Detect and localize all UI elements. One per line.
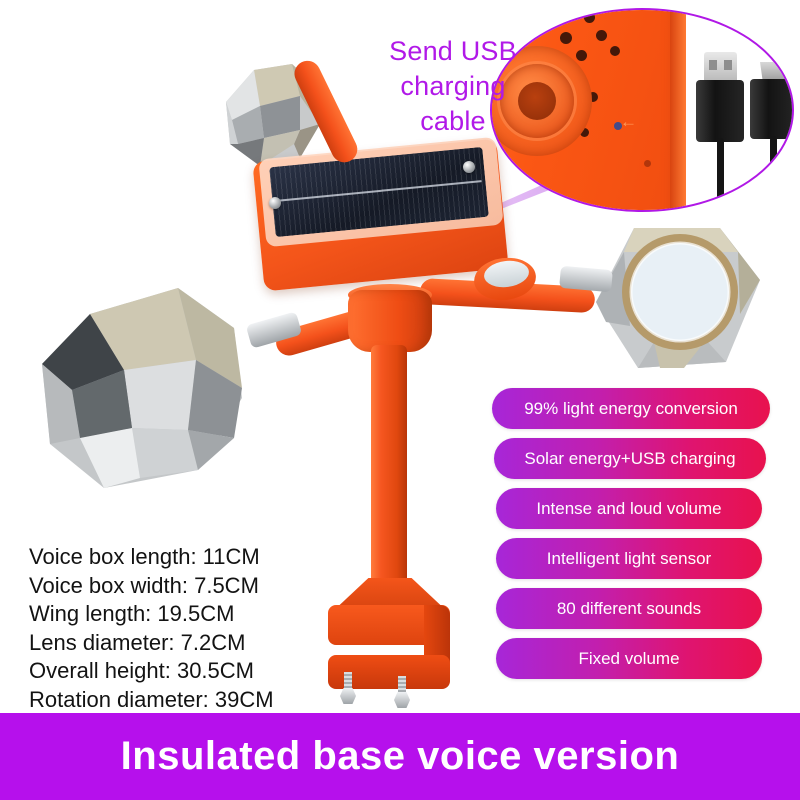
feature-pill[interactable]: 99% light energy conversion [492,388,770,429]
callout-label-line1: Send USB [368,34,538,69]
bolt-nut [340,688,356,704]
feature-pill[interactable]: Intelligent light sensor [496,538,762,579]
spec-line: Voice box width: 7.5CM [29,572,274,601]
spec-line: Wing length: 19.5CM [29,600,274,629]
speaker-hole [560,32,572,44]
support-pole [371,345,407,600]
callout-label: Send USB charging cable [368,34,538,139]
screw-icon [269,197,281,209]
feature-pill-label: 99% light energy conversion [524,399,738,419]
bolt-nut [394,692,410,708]
callout-label-line2: charging cable [368,69,538,139]
speaker-hole [548,14,560,26]
mirror-ball-left [28,278,278,503]
micro-usb-connector [750,79,794,139]
screw-hole [644,160,651,167]
feature-pill-label: 80 different sounds [557,599,701,619]
device-edge [670,8,686,212]
micro-usb-port [540,210,578,212]
feature-pill-label: Fixed volume [578,649,679,669]
arrow-icon: ← [620,116,650,128]
feature-pill-label: Solar energy+USB charging [524,449,735,469]
spec-line: Voice box length: 11CM [29,543,274,572]
usb-a-cable [712,200,722,212]
feature-pill-label: Intelligent light sensor [547,549,711,569]
screw-icon [463,161,475,173]
mirror-ball-right [588,222,768,377]
mirror-stub-right [559,266,613,292]
rotation-hub [348,290,432,352]
spec-line: Lens diameter: 7.2CM [29,629,274,658]
speaker-hole [596,30,607,41]
product-image-canvas: ← Send USB charging cable [0,0,800,800]
clamp-bolt [394,676,410,706]
feature-pill[interactable]: Intense and loud volume [496,488,762,529]
micro-usb-cable [770,136,777,212]
speaker-hole [584,12,595,23]
feature-pill[interactable]: Solar energy+USB charging [494,438,766,479]
spec-line: Overall height: 30.5CM [29,657,274,686]
banner-title: Insulated base voice version [121,734,680,779]
feature-list: 99% light energy conversion Solar energy… [492,388,770,688]
bottom-banner: Insulated base voice version [0,713,800,800]
micro-usb-cable [765,202,775,212]
usb-a-connector [696,80,744,142]
feature-pill[interactable]: 80 different sounds [496,588,762,629]
usb-a-metal-tip [704,52,737,82]
feature-pill-label: Intense and loud volume [536,499,721,519]
spec-line: Rotation diameter: 39CM [29,686,274,715]
feature-pill[interactable]: Fixed volume [496,638,762,679]
specification-list: Voice box length: 11CM Voice box width: … [29,543,274,714]
speaker-hole [576,50,587,61]
speaker-hole [610,46,620,56]
clamp-bolt [340,672,356,702]
